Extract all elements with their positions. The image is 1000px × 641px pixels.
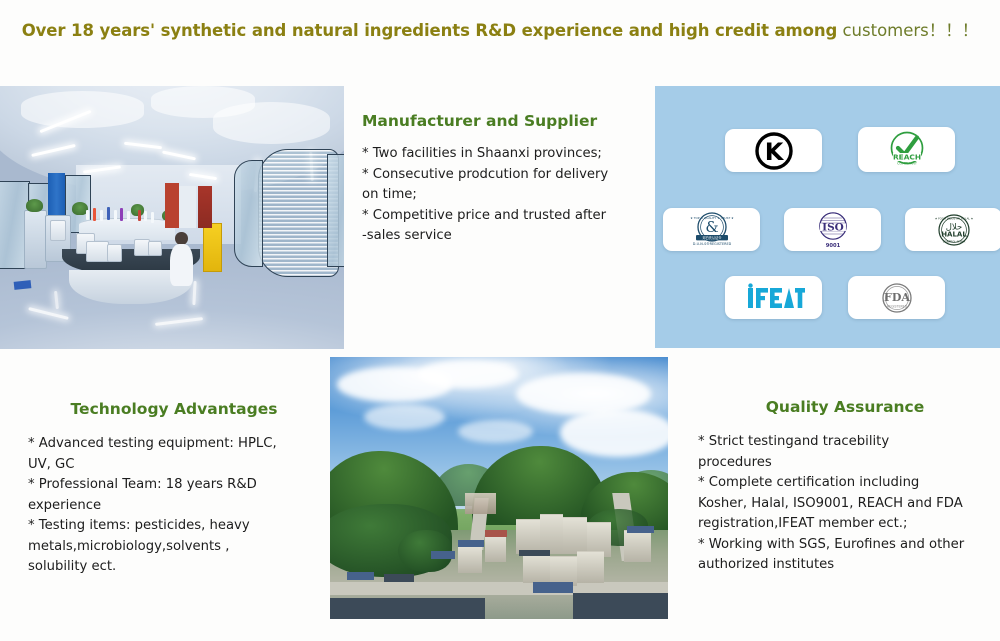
- lab-door: [179, 186, 196, 228]
- svg-text:FDA: FDA: [884, 291, 910, 304]
- reach-icon: REACH COMPLIANT: [885, 129, 929, 171]
- kosher-k-icon: K: [754, 131, 794, 171]
- lab-floor-object: [13, 280, 31, 290]
- manufacturer-body: * Two facilities in Shaanxi provinces; *…: [362, 144, 654, 247]
- lab-instrument: [50, 220, 66, 240]
- lab-reagent-bottle: [93, 208, 96, 221]
- village-building: [485, 535, 505, 562]
- lab-reagent-bottle: [114, 210, 117, 221]
- lab-reagent-bottle: [86, 210, 89, 221]
- halal-badge[interactable]: ★ FOOD INDUSTRY HALAL ★ حلال HALAL CONTR…: [905, 208, 1000, 251]
- lab-door: [165, 183, 179, 228]
- svg-text:CONTROL CHINA: CONTROL CHINA: [942, 239, 965, 243]
- headline-bold-text: Over 18 years' synthetic and natural ing…: [22, 21, 838, 40]
- technology-body: * Advanced testing equipment: HPLC, UV, …: [28, 434, 320, 578]
- lab-reagent-bottle: [107, 207, 110, 220]
- page-headline: Over 18 years' synthetic and natural ing…: [0, 18, 1000, 44]
- duns-badge[interactable]: ★ TOP ★ QUALITY ★ TRUST ★ & 邓白氏认证® D-U-N…: [663, 208, 760, 251]
- lab-floor-reflection: [192, 281, 196, 305]
- lab-safety-cabinet: [203, 223, 222, 272]
- svg-text:REGISTERED: REGISTERED: [886, 304, 907, 308]
- lab-glass-panel: [327, 154, 344, 266]
- quality-section: Quality Assurance * Strict testingand tr…: [698, 398, 992, 576]
- technology-section: Technology Advantages * Advanced testing…: [28, 400, 320, 578]
- lab-reagent-bottle: [151, 212, 154, 223]
- lab-floor-reflection: [155, 317, 203, 326]
- svg-text:邓白氏认证®: 邓白氏认证®: [702, 235, 721, 240]
- svg-text:★ FOOD INDUSTRY HALAL ★: ★ FOOD INDUSTRY HALAL ★: [934, 216, 973, 220]
- village-roof: [330, 598, 485, 619]
- village-cloud: [560, 409, 668, 456]
- lab-ceiling-beam: [21, 91, 145, 128]
- svg-text:REACH: REACH: [892, 152, 920, 161]
- lab-reagent-bottle: [100, 210, 103, 222]
- village-roof: [533, 582, 574, 592]
- reach-badge[interactable]: REACH COMPLIANT: [858, 127, 955, 172]
- ifeat-badge[interactable]: [725, 276, 822, 319]
- lab-reagent-bottle: [127, 211, 130, 222]
- fda-badge[interactable]: FDA REGISTERED: [848, 276, 945, 319]
- village-roof: [519, 550, 549, 557]
- lab-instrument: [148, 241, 162, 256]
- headline-tail-text: customers！！！: [837, 21, 978, 40]
- duns-icon: ★ TOP ★ QUALITY ★ TRUST ★ & 邓白氏认证® D-U-N…: [683, 211, 741, 249]
- svg-text:D-U-N-S®REGISTERED: D-U-N-S®REGISTERED: [692, 242, 731, 246]
- svg-text:COMPLIANT: COMPLIANT: [897, 161, 918, 165]
- quality-body: * Strict testingand tracebility procedur…: [698, 432, 992, 576]
- manufacturer-section: Manufacturer and Supplier * Two faciliti…: [362, 112, 654, 247]
- certification-panel: K REACH COMPLIANT ★ TOP ★ QUALITY ★ TRUS…: [655, 86, 1000, 348]
- fda-icon: FDA REGISTERED: [876, 279, 918, 317]
- mountain-village-panorama-image: [330, 357, 668, 619]
- village-building: [563, 517, 587, 555]
- svg-text:HALAL: HALAL: [941, 230, 967, 238]
- lab-floor-reflection: [28, 307, 69, 320]
- village-building: [540, 514, 564, 554]
- ifeat-icon: [743, 283, 805, 313]
- svg-text:&: &: [705, 218, 718, 236]
- lab-glass-door: [234, 160, 264, 267]
- lab-floor-reflection: [54, 291, 59, 310]
- quality-title: Quality Assurance: [698, 398, 992, 416]
- kosher-k-badge[interactable]: K: [725, 129, 822, 172]
- lab-instrument: [107, 244, 123, 262]
- lab-potted-plant: [26, 199, 43, 212]
- village-roof: [627, 526, 654, 533]
- laboratory-panorama-image: [0, 86, 344, 349]
- village-roof: [431, 551, 455, 559]
- village-building: [577, 551, 604, 583]
- svg-text:9001: 9001: [825, 243, 840, 249]
- lab-technician-coat: [170, 244, 192, 286]
- manufacturer-title: Manufacturer and Supplier: [362, 112, 654, 130]
- lab-reagent-bottle: [120, 208, 123, 221]
- svg-text:ISO: ISO: [822, 221, 844, 233]
- iso-9001-badge[interactable]: ISO 9001: [784, 208, 881, 251]
- svg-text:K: K: [764, 138, 784, 166]
- village-roof: [573, 593, 668, 619]
- village-roof: [485, 530, 507, 537]
- lab-reagent-bottle: [138, 210, 141, 222]
- village-building: [624, 530, 651, 562]
- village-valley-town: [465, 493, 495, 514]
- lab-ceiling-beam: [213, 102, 330, 144]
- technology-title: Technology Advantages: [28, 400, 320, 418]
- iso-9001-icon: ISO 9001: [809, 210, 857, 250]
- village-building: [523, 554, 550, 584]
- lab-instrument: [86, 241, 109, 261]
- village-building: [458, 546, 482, 573]
- village-cloud: [516, 373, 651, 415]
- lab-refrigerator: [24, 210, 47, 270]
- village-roof: [347, 572, 374, 580]
- village-roof: [384, 574, 414, 582]
- lab-red-door: [198, 186, 212, 228]
- village-roof: [458, 540, 483, 547]
- halal-icon: ★ FOOD INDUSTRY HALAL ★ حلال HALAL CONTR…: [932, 210, 976, 250]
